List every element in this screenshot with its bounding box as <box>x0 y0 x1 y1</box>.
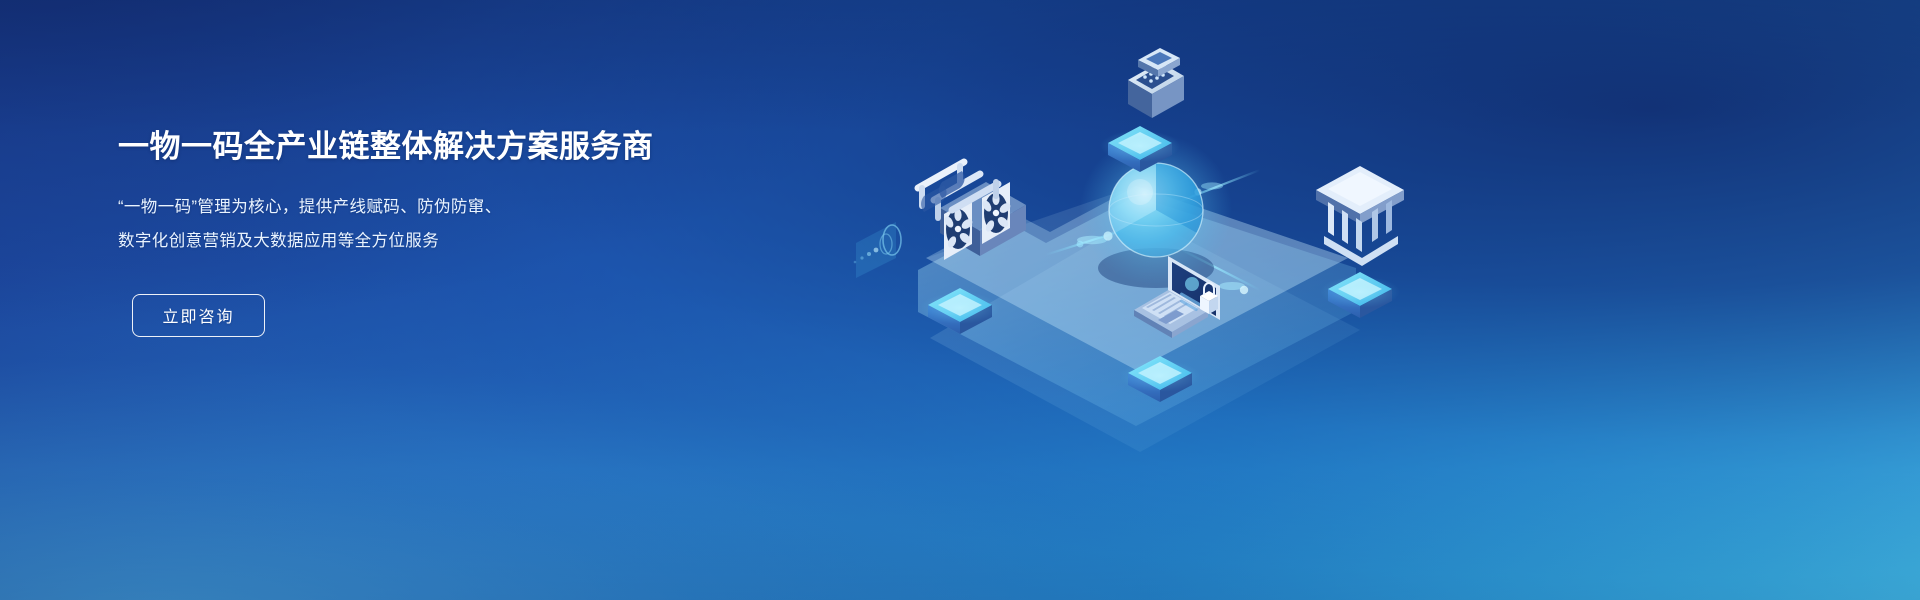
page-title: 一物一码全产业链整体解决方案服务商 <box>118 128 758 165</box>
hero-illustration <box>840 0 1480 600</box>
hero-subtitle: “一物一码”管理为核心，提供产线赋码、防伪防窜、 数字化创意营销及大数据应用等全… <box>118 191 758 259</box>
subtitle-line-1: “一物一码”管理为核心，提供产线赋码、防伪防窜、 <box>118 191 758 225</box>
pos-terminal-icon <box>1128 48 1184 118</box>
subtitle-line-2: 数字化创意营销及大数据应用等全方位服务 <box>118 225 758 259</box>
bank-icon <box>1316 166 1404 266</box>
hero-copy: 一物一码全产业链整体解决方案服务商 “一物一码”管理为核心，提供产线赋码、防伪防… <box>118 128 758 337</box>
hero-banner: 一物一码全产业链整体解决方案服务商 “一物一码”管理为核心，提供产线赋码、防伪防… <box>0 0 1920 600</box>
consult-now-button[interactable]: 立即咨询 <box>132 294 265 337</box>
data-stream-left <box>854 222 901 278</box>
